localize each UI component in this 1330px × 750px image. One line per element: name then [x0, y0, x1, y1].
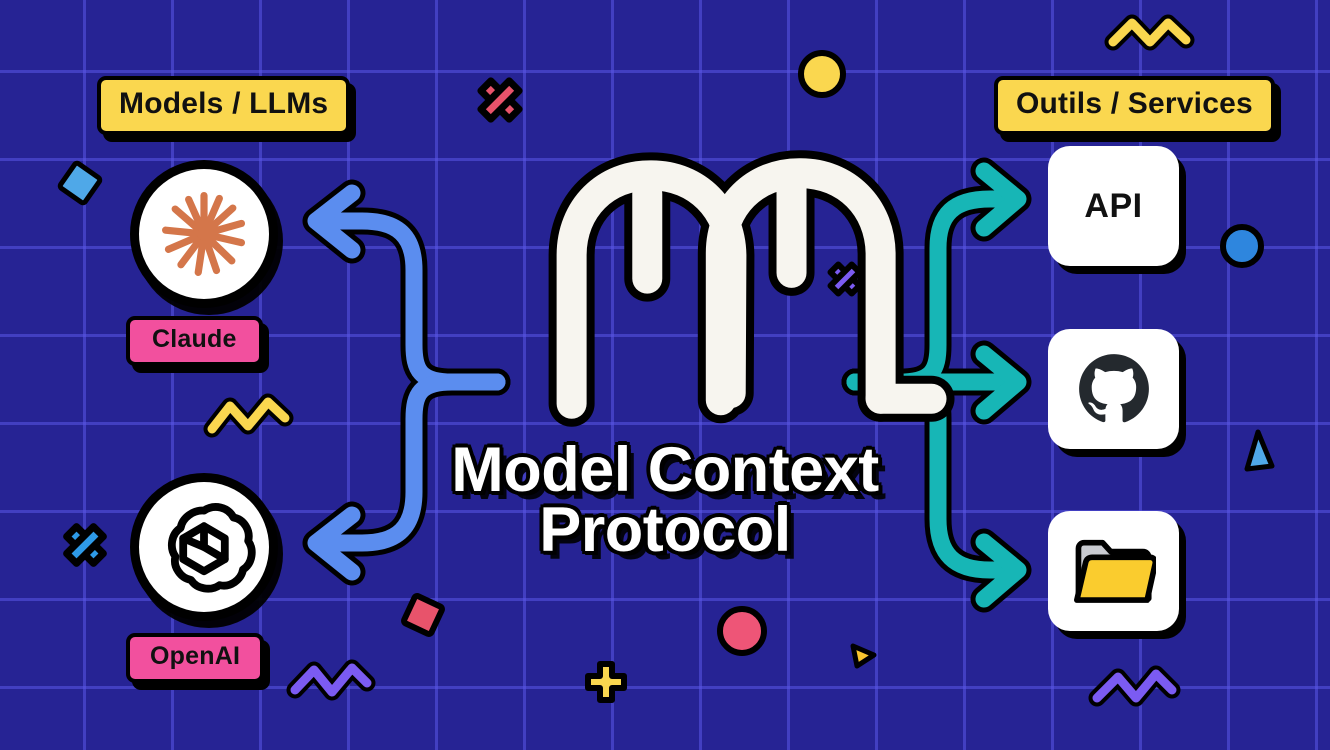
tool-card-api[interactable]: API [1048, 146, 1179, 266]
deco-zigzag-yellow-top [1113, 23, 1186, 42]
deco-plus-yellow [588, 664, 624, 700]
deco-zigzag-yellow-top-fill [1113, 23, 1186, 42]
deco-zigzag-purple-right-outline [1097, 674, 1172, 698]
folder-icon [1072, 535, 1156, 607]
deco-zigzag-yellow-left-outline [212, 402, 285, 429]
deco-zigzag-purple-left [295, 668, 367, 692]
openai-knot-icon [152, 495, 256, 599]
label-openai: OpenAI [126, 633, 264, 683]
mcp-infographic: Model Context Protocol Models / LLMs [0, 0, 1330, 750]
model-openai[interactable] [130, 473, 278, 621]
deco-cross-red [472, 72, 529, 129]
heading-models-llms: Models / LLMs [97, 76, 350, 135]
tool-card-files[interactable] [1048, 511, 1179, 631]
api-label: API [1084, 187, 1142, 226]
deco-zigzag-purple-left-outline [295, 668, 367, 692]
deco-diamond-cyan [59, 162, 101, 204]
deco-cross-purple [824, 258, 866, 300]
github-icon [1076, 351, 1152, 427]
heading-outils-services: Outils / Services [994, 76, 1275, 135]
deco-triangle-yellow [853, 646, 874, 666]
deco-zigzag-yellow-left [212, 402, 285, 429]
deco-circle-pink [720, 609, 764, 653]
deco-zigzag-purple-right [1097, 674, 1172, 698]
deco-circle-blue [1223, 227, 1261, 265]
label-claude: Claude [126, 316, 263, 366]
claude-burst-icon [156, 186, 252, 282]
deco-square-red [403, 595, 443, 635]
deco-circle-yellow [801, 53, 843, 95]
tool-card-github[interactable] [1048, 329, 1179, 449]
model-claude[interactable] [130, 160, 278, 308]
